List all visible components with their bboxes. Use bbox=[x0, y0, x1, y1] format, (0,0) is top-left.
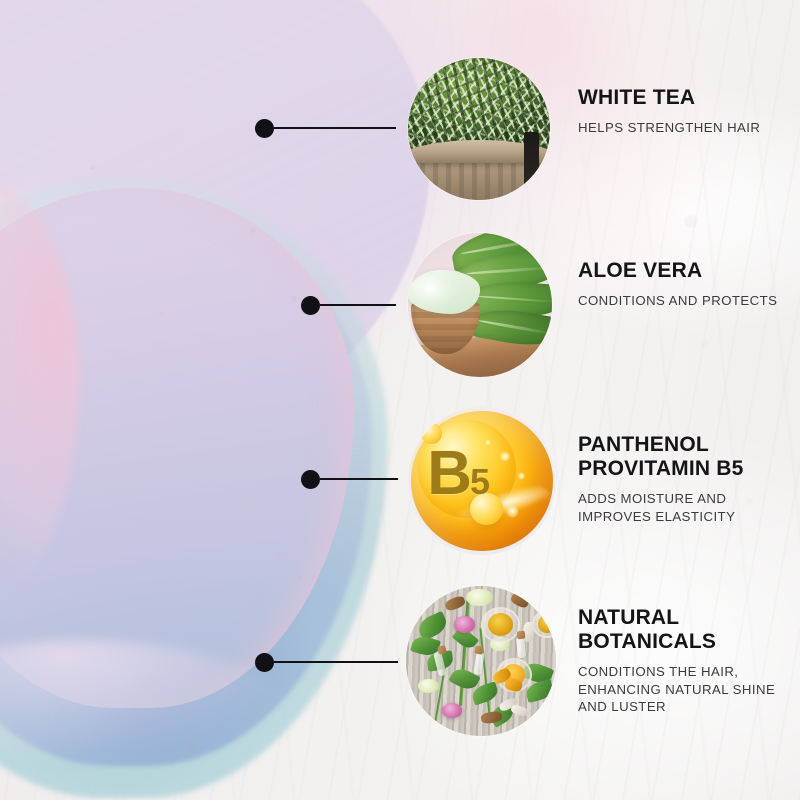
aloe-leaf-highlight bbox=[479, 319, 552, 335]
ingredient-infographic: WHITE TEA HELPS STRENGTHEN HAIR ALOE VER… bbox=[0, 0, 800, 800]
bowl-contents bbox=[488, 613, 513, 636]
b5-glint bbox=[506, 505, 519, 518]
vial-cork bbox=[437, 645, 446, 654]
vial-cork bbox=[474, 645, 483, 654]
ingredient-title: ALOE VERA bbox=[578, 259, 793, 283]
basket-dark-gap bbox=[524, 132, 538, 189]
aloe-leaf-highlight bbox=[465, 266, 552, 275]
callout-dot bbox=[255, 653, 274, 672]
ingredient-description: CONDITIONS AND PROTECTS bbox=[578, 292, 793, 310]
callout-text-aloe-vera: ALOE VERA CONDITIONS AND PROTECTS bbox=[578, 259, 793, 310]
background-speck bbox=[186, 744, 195, 752]
bowl-of-dried-flowers bbox=[481, 607, 520, 643]
background-speck bbox=[298, 576, 302, 580]
vial-cork bbox=[517, 631, 525, 639]
callout-dot bbox=[301, 296, 320, 315]
bowl-of-dried-flowers bbox=[532, 610, 556, 638]
ingredient-description: HELPS STRENGTHEN HAIR bbox=[578, 119, 793, 137]
bowl-contents bbox=[538, 615, 556, 632]
clover-flower bbox=[442, 703, 462, 718]
callout-dot bbox=[255, 119, 274, 138]
aloe-gel-chunks bbox=[408, 270, 480, 313]
ingredient-title: NATURAL BOTANICALS bbox=[578, 606, 793, 654]
ingredient-description: CONDITIONS THE HAIR, ENHANCING NATURAL S… bbox=[578, 663, 793, 716]
aloe-leaf-highlight bbox=[474, 295, 552, 304]
thumbnail-natural-botanicals-herbs-on-wood bbox=[406, 586, 556, 736]
background-speck bbox=[90, 165, 95, 170]
callout-dot bbox=[301, 470, 320, 489]
thumbnail-white-tea-leaves-in-basket bbox=[408, 58, 550, 200]
clover-flower bbox=[454, 616, 475, 633]
ingredient-title: PANTHENOL PROVITAMIN B5 bbox=[578, 433, 793, 481]
thumbnail-aloe-vera-leaves-and-gel-bowl bbox=[408, 233, 552, 377]
thumbnail-provitamin-b5-golden-sphere: B5 bbox=[408, 407, 556, 555]
white-flower-cluster bbox=[466, 589, 493, 606]
callout-leader-line bbox=[274, 127, 396, 129]
background-speck bbox=[700, 340, 709, 348]
background-speck bbox=[292, 296, 297, 301]
background-speck bbox=[250, 228, 256, 233]
b5-letter: B bbox=[427, 439, 470, 508]
b5-glint bbox=[518, 472, 525, 479]
b5-label: B5 bbox=[427, 443, 489, 505]
b5-glint bbox=[500, 451, 510, 461]
ingredient-title: WHITE TEA bbox=[578, 86, 793, 110]
callout-text-panthenol-b5: PANTHENOL PROVITAMIN B5 ADDS MOISTURE AN… bbox=[578, 433, 793, 525]
b5-subscript: 5 bbox=[470, 461, 489, 502]
background-lobe-shape bbox=[0, 170, 410, 800]
background-speck bbox=[684, 215, 698, 228]
callout-leader-line bbox=[320, 304, 396, 306]
callout-leader-line bbox=[320, 478, 398, 480]
ingredient-description: ADDS MOISTURE AND IMPROVES ELASTICITY bbox=[578, 490, 793, 525]
callout-text-white-tea: WHITE TEA HELPS STRENGTHEN HAIR bbox=[578, 86, 793, 137]
callout-leader-line bbox=[274, 661, 398, 663]
background-speck bbox=[160, 312, 164, 316]
white-flower-cluster bbox=[418, 679, 439, 693]
callout-text-natural-botanicals: NATURAL BOTANICALS CONDITIONS THE HAIR, … bbox=[578, 606, 793, 716]
